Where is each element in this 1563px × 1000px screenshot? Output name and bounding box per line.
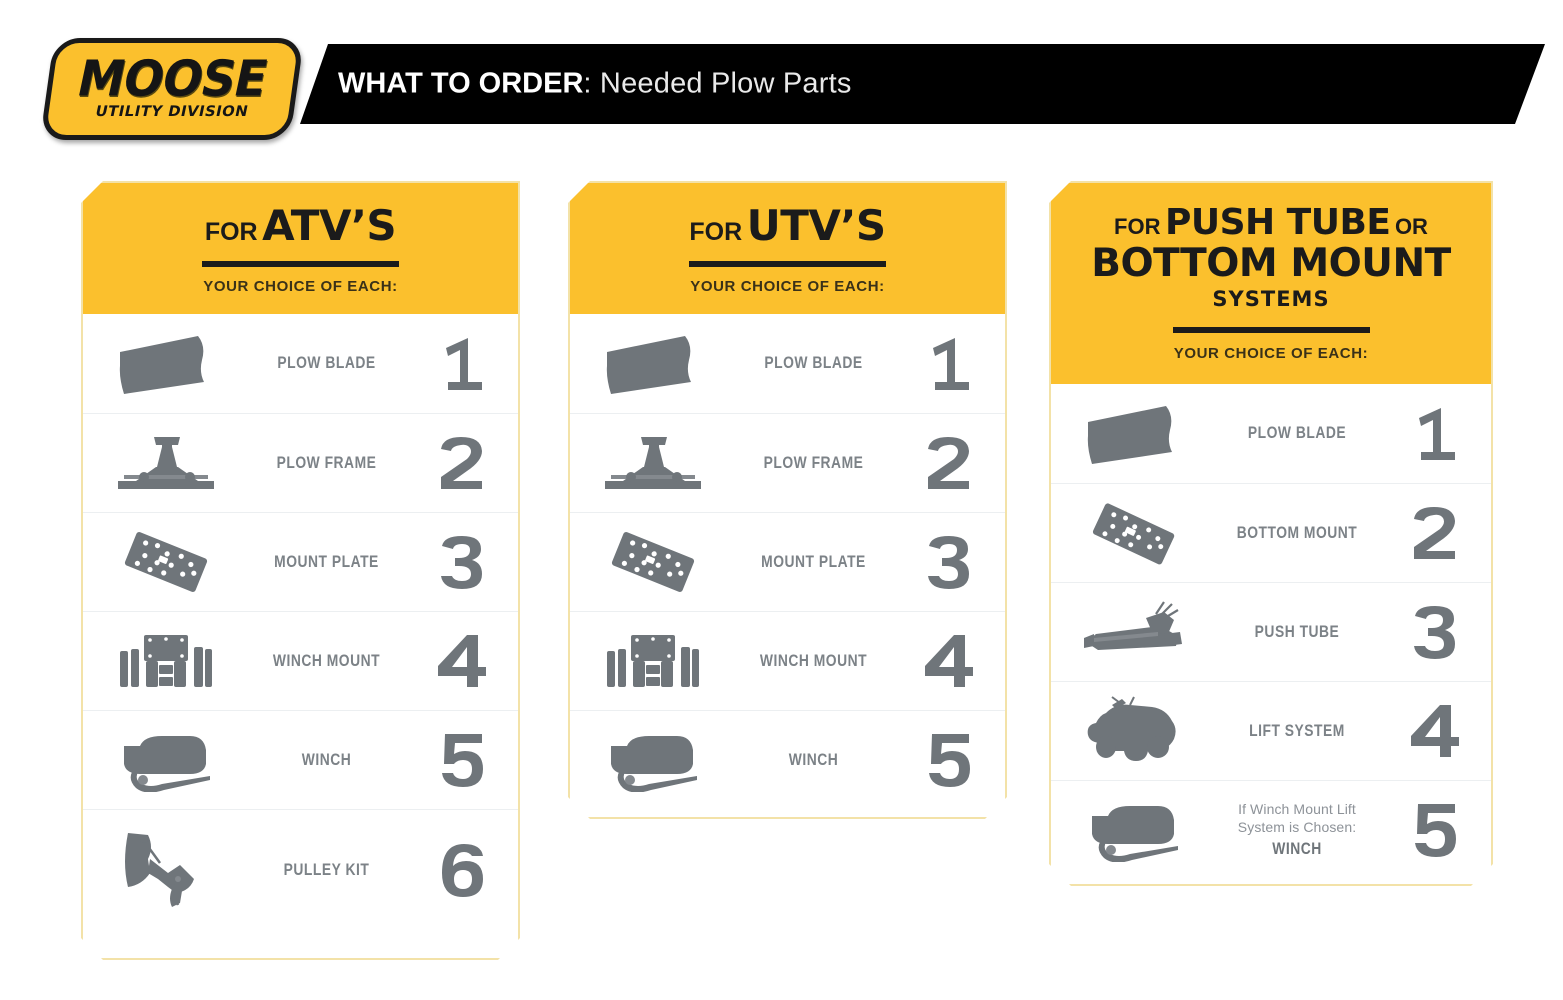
card-push-title-big: PUSH TUBE [1165, 202, 1391, 243]
card-utv-body: PLOW BLADE PLOW FRAME [570, 314, 1005, 809]
card-atv-title-small: FOR [205, 218, 258, 246]
table-row: BOTTOM MOUNT [1051, 483, 1491, 582]
banner-title-bold: WHAT TO ORDER [338, 68, 583, 100]
winch-icon [592, 728, 714, 792]
mount-plate-icon [592, 530, 714, 594]
moose-logo: MOOSE UTILITY DIVISION [40, 38, 304, 140]
row-number [913, 532, 985, 592]
bottom-mount-icon [1073, 501, 1195, 565]
logo-wordmark: MOOSE [73, 57, 271, 104]
card-utv-header: FOR UTV’S YOUR CHOICE OF EACH: [570, 183, 1005, 314]
divider-rule [689, 261, 886, 267]
row-number [426, 334, 498, 394]
row-label: PLOW BLADE [243, 354, 410, 373]
row-number [913, 631, 985, 691]
row-label: WINCH MOUNT [730, 652, 897, 671]
card-utv-title-small: FOR [689, 218, 742, 246]
note-line-1: If Winch Mount Lift [1195, 801, 1399, 819]
row-number [913, 433, 985, 493]
table-row: PLOW FRAME [570, 413, 1005, 512]
card-utv-title-big: UTV’S [747, 201, 886, 250]
card-push-title-big2: BOTTOM MOUNT [1091, 241, 1450, 286]
card-push-tube: FOR PUSH TUBE OR BOTTOM MOUNT SYSTEMS YO… [1049, 181, 1493, 886]
row-label: PLOW BLADE [1211, 424, 1382, 443]
row-note: If Winch Mount Lift System is Chosen: WI… [1195, 801, 1399, 860]
row-number [1399, 404, 1471, 464]
row-number [913, 730, 985, 790]
winch-icon [105, 728, 227, 792]
card-push-header: FOR PUSH TUBE OR BOTTOM MOUNT SYSTEMS YO… [1051, 183, 1491, 384]
card-atv-body: PLOW BLADE PLOW FRAME [83, 314, 518, 930]
title-banner: WHAT TO ORDER: Needed Plow Parts [300, 44, 1545, 124]
table-row: MOUNT PLATE [570, 512, 1005, 611]
table-row: WINCH [83, 710, 518, 809]
card-atv-choice-label: YOUR CHOICE OF EACH: [103, 278, 498, 295]
card-atv: FOR ATV’S YOUR CHOICE OF EACH: PLOW BLAD… [81, 181, 520, 960]
card-push-body: PLOW BLADE [1051, 384, 1491, 879]
card-atv-header: FOR ATV’S YOUR CHOICE OF EACH: [83, 183, 518, 314]
row-label: PLOW FRAME [730, 454, 897, 473]
page-header: MOOSE UTILITY DIVISION WHAT TO ORDER: Ne… [0, 0, 1563, 160]
plow-frame-icon [592, 431, 714, 495]
plow-blade-icon [1073, 402, 1195, 466]
row-label: WINCH [243, 751, 410, 770]
table-row: PUSH TUBE [1051, 582, 1491, 681]
row-number [913, 334, 985, 394]
note-line-2: System is Chosen: [1195, 819, 1399, 837]
winch-mount-icon [105, 629, 227, 693]
winch-mount-icon [592, 629, 714, 693]
card-push-choice-label: YOUR CHOICE OF EACH: [1071, 345, 1471, 362]
table-row: PLOW FRAME [83, 413, 518, 512]
row-number [426, 840, 498, 900]
table-row: WINCH MOUNT [83, 611, 518, 710]
row-number [1399, 602, 1471, 662]
table-row: WINCH MOUNT [570, 611, 1005, 710]
row-label: WINCH [1211, 840, 1382, 859]
row-number [426, 433, 498, 493]
row-label: PLOW FRAME [243, 454, 410, 473]
table-row: PLOW BLADE [570, 314, 1005, 413]
row-number [426, 631, 498, 691]
winch-icon [1073, 798, 1195, 862]
banner-title-rest: : Needed Plow Parts [583, 68, 851, 100]
card-push-title-line2: BOTTOM MOUNT [1071, 244, 1471, 284]
row-number [426, 532, 498, 592]
row-number [1399, 800, 1471, 860]
card-utv-choice-label: YOUR CHOICE OF EACH: [590, 278, 985, 295]
card-push-title-sub: SYSTEMS [1071, 287, 1471, 311]
row-label: PULLEY KIT [243, 861, 410, 880]
logo-tagline: UTILITY DIVISION [94, 104, 250, 120]
card-utv: FOR UTV’S YOUR CHOICE OF EACH: PLOW BLAD… [568, 181, 1007, 819]
card-atv-title-big: ATV’S [262, 201, 396, 250]
row-label: PLOW BLADE [730, 354, 897, 373]
mount-plate-icon [105, 530, 227, 594]
table-row: If Winch Mount Lift System is Chosen: WI… [1051, 780, 1491, 879]
divider-rule [1173, 327, 1370, 333]
row-label: PUSH TUBE [1211, 623, 1382, 642]
row-label: LIFT SYSTEM [1211, 722, 1382, 741]
table-row: LIFT SYSTEM [1051, 681, 1491, 780]
plow-blade-icon [105, 332, 227, 396]
plow-blade-icon [592, 332, 714, 396]
card-atv-title: FOR ATV’S [103, 205, 498, 248]
push-tube-icon [1073, 600, 1195, 664]
plow-frame-icon [105, 431, 227, 495]
row-number [426, 730, 498, 790]
card-push-title-or: OR [1395, 214, 1428, 239]
lift-system-icon [1073, 695, 1195, 767]
table-row: PLOW BLADE [1051, 384, 1491, 483]
table-row: PLOW BLADE [83, 314, 518, 413]
row-number [1399, 503, 1471, 563]
banner-text: WHAT TO ORDER: Needed Plow Parts [338, 68, 852, 101]
row-label: WINCH MOUNT [243, 652, 410, 671]
card-push-title-line1: FOR PUSH TUBE OR [1071, 205, 1471, 242]
row-label: BOTTOM MOUNT [1211, 524, 1382, 543]
table-row: MOUNT PLATE [83, 512, 518, 611]
row-label: MOUNT PLATE [730, 553, 897, 572]
card-push-title-small: FOR [1114, 214, 1160, 239]
row-label: MOUNT PLATE [243, 553, 410, 572]
table-row: WINCH [570, 710, 1005, 809]
card-utv-title: FOR UTV’S [590, 205, 985, 248]
row-label: WINCH [730, 751, 897, 770]
table-row: PULLEY KIT [83, 809, 518, 930]
pulley-kit-icon [105, 829, 227, 911]
divider-rule [202, 261, 399, 267]
row-number [1399, 701, 1471, 761]
